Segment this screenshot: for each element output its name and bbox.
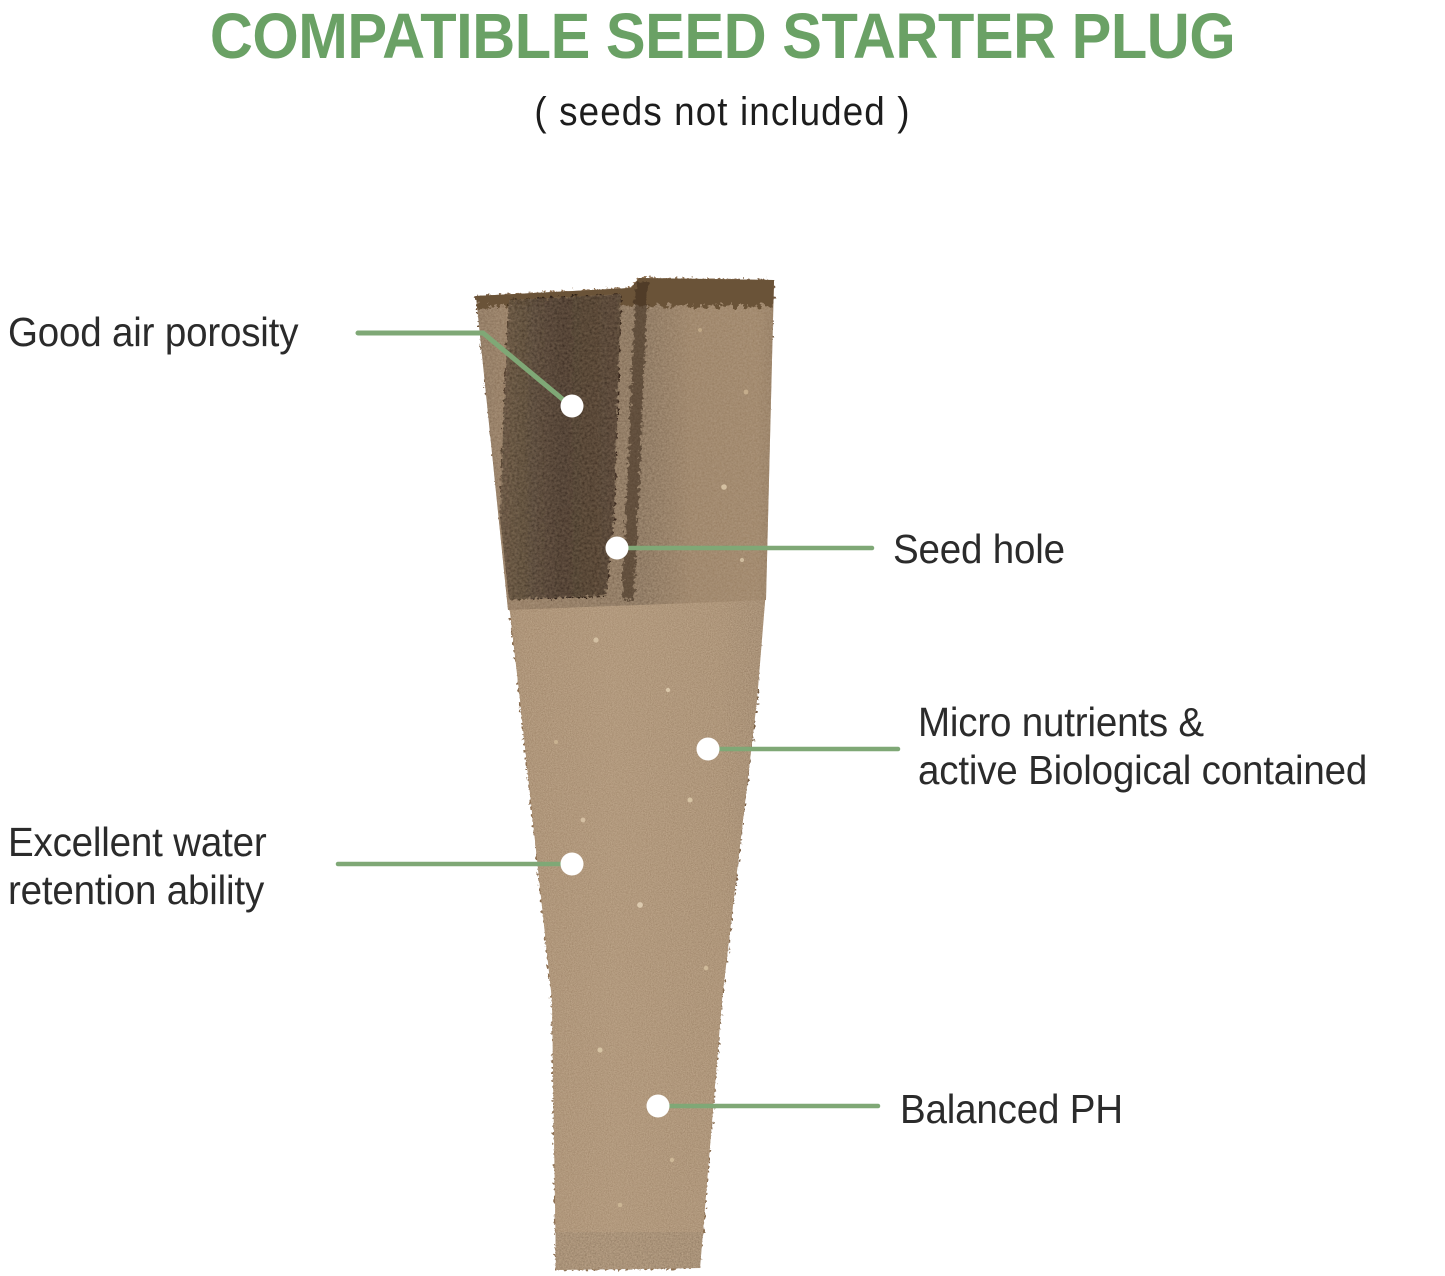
infographic-canvas: COMPATIBLE SEED STARTER PLUG ( seeds not… — [0, 0, 1445, 1276]
callout-label-seed-hole: Seed hole — [893, 525, 1065, 573]
callout-label-good-air-porosity: Good air porosity — [8, 308, 298, 356]
plug-body — [460, 260, 790, 1276]
callout-label-micro-nutrients: Micro nutrients & active Biological cont… — [918, 698, 1367, 794]
callout-label-water-retention: Excellent water retention ability — [8, 818, 267, 914]
callout-label-balanced-ph: Balanced PH — [900, 1085, 1123, 1133]
product-image — [0, 0, 1445, 1276]
